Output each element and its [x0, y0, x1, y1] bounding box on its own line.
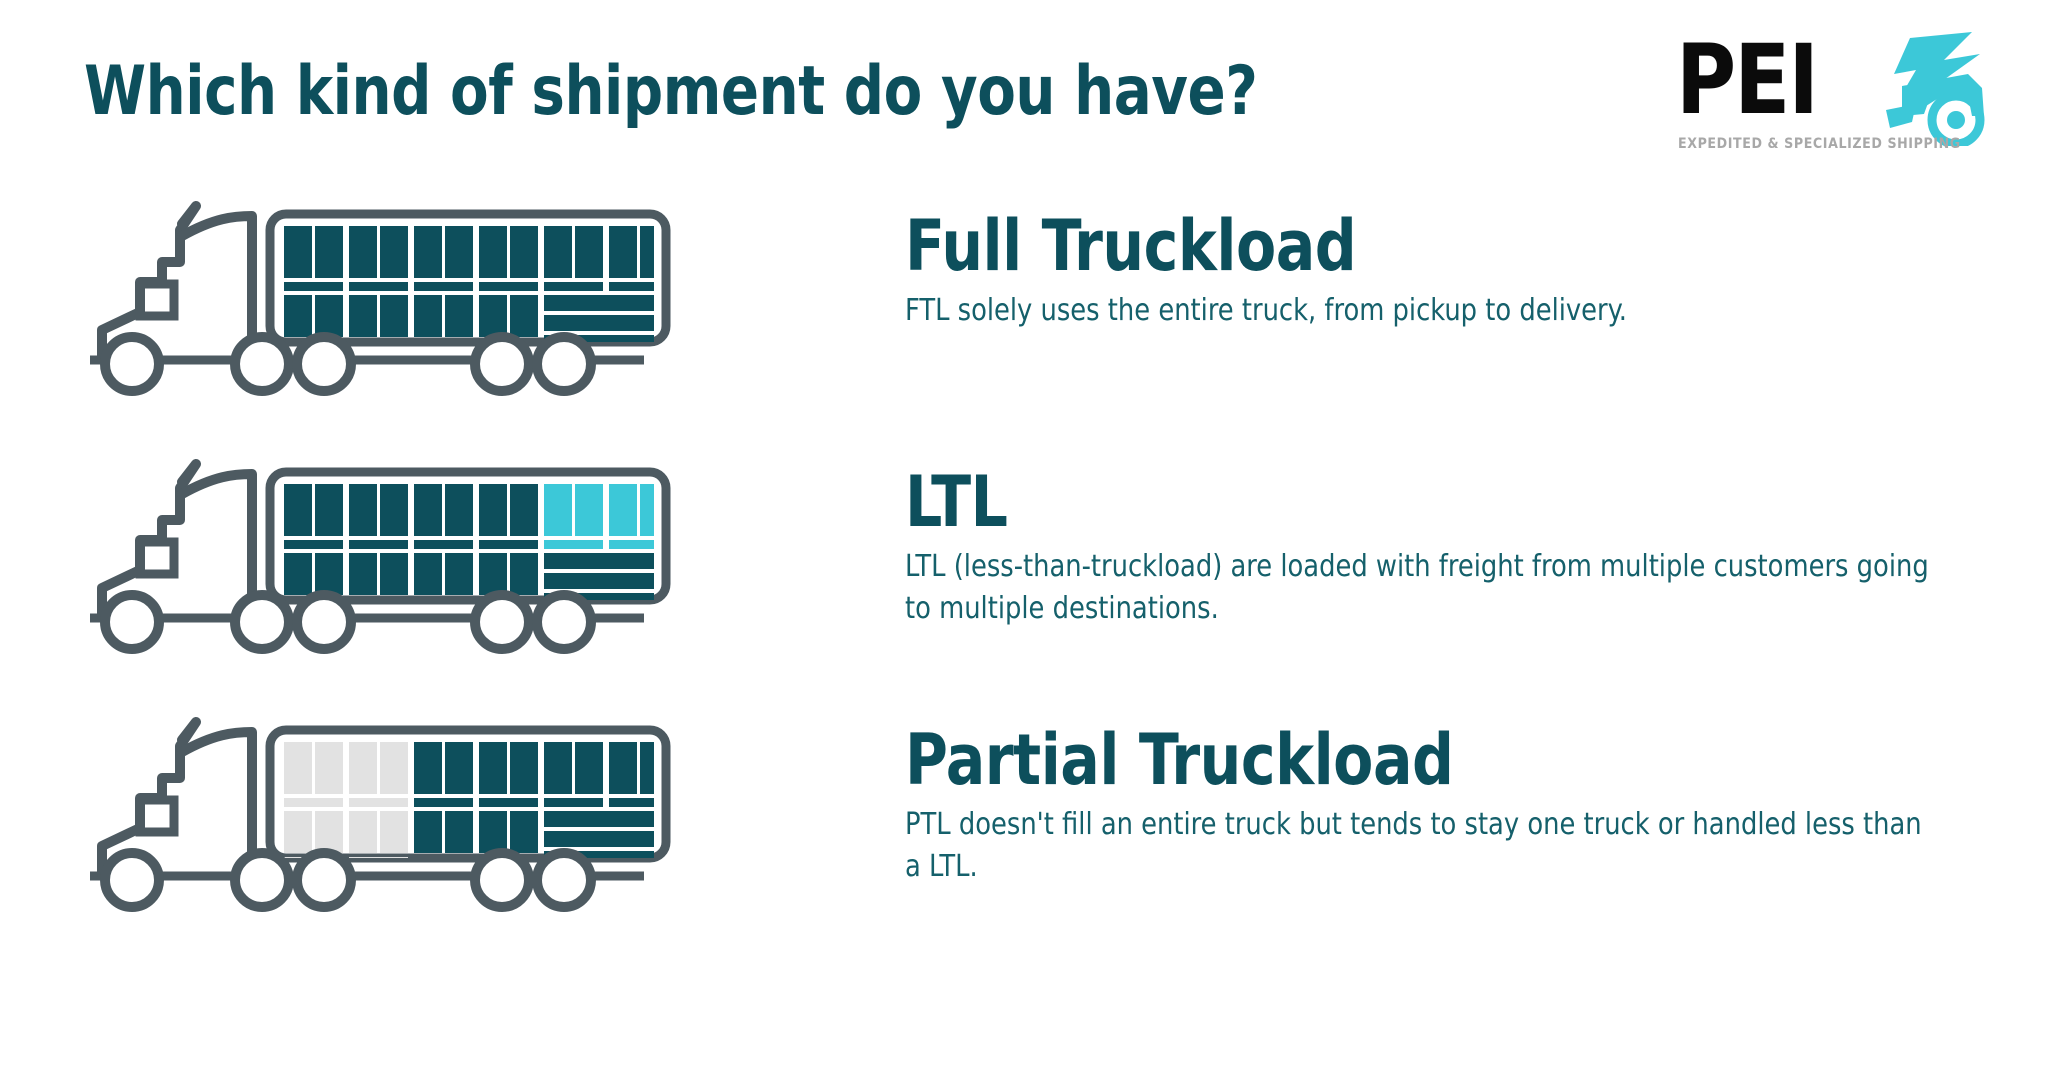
shipment-description: LTL (less-than-truckload) are loaded wit…: [905, 546, 1930, 630]
shipment-heading: LTL: [905, 464, 1919, 540]
infographic-page: Which kind of shipment do you have? PEI …: [0, 0, 2048, 1072]
truck-illustration-full-truckload: [84, 200, 854, 450]
pei-rabbit-truck-icon: [1872, 30, 1990, 146]
shipment-description: PTL doesn't fill an entire truck but ten…: [905, 804, 1930, 888]
shipment-copy-full-truckload: Full Truckload FTL solely uses the entir…: [905, 208, 1995, 332]
pei-logo: PEI EXPEDITED & SPECIALIZED SHIPPING: [1676, 26, 1986, 171]
shipment-copy-ltl: LTL LTL (less-than-truckload) are loaded…: [905, 464, 1995, 630]
truck-illustration-partial-truckload: [84, 716, 854, 966]
logo-tagline: EXPEDITED & SPECIALIZED SHIPPING: [1678, 136, 1961, 152]
shipment-row-full-truckload: Full Truckload FTL solely uses the entir…: [0, 200, 2048, 450]
cargo-cells-dark: [284, 226, 654, 342]
shipment-copy-partial-truckload: Partial Truckload PTL doesn't fill an en…: [905, 722, 1995, 888]
logo-wordmark: PEI: [1676, 32, 1817, 128]
shipment-description: FTL solely uses the entire truck, from p…: [905, 290, 1930, 332]
truck-illustration-ltl: [84, 458, 854, 708]
cargo-cells-empty: [284, 742, 408, 858]
cargo-cells-cyan: [544, 484, 654, 549]
cargo-cells-dark: [414, 742, 654, 858]
page-title: Which kind of shipment do you have?: [84, 52, 1257, 131]
shipment-heading: Partial Truckload: [905, 722, 1919, 798]
shipment-row-partial-truckload: Partial Truckload PTL doesn't fill an en…: [0, 716, 2048, 966]
shipment-row-ltl: LTL LTL (less-than-truckload) are loaded…: [0, 458, 2048, 708]
shipment-heading: Full Truckload: [905, 208, 1919, 284]
